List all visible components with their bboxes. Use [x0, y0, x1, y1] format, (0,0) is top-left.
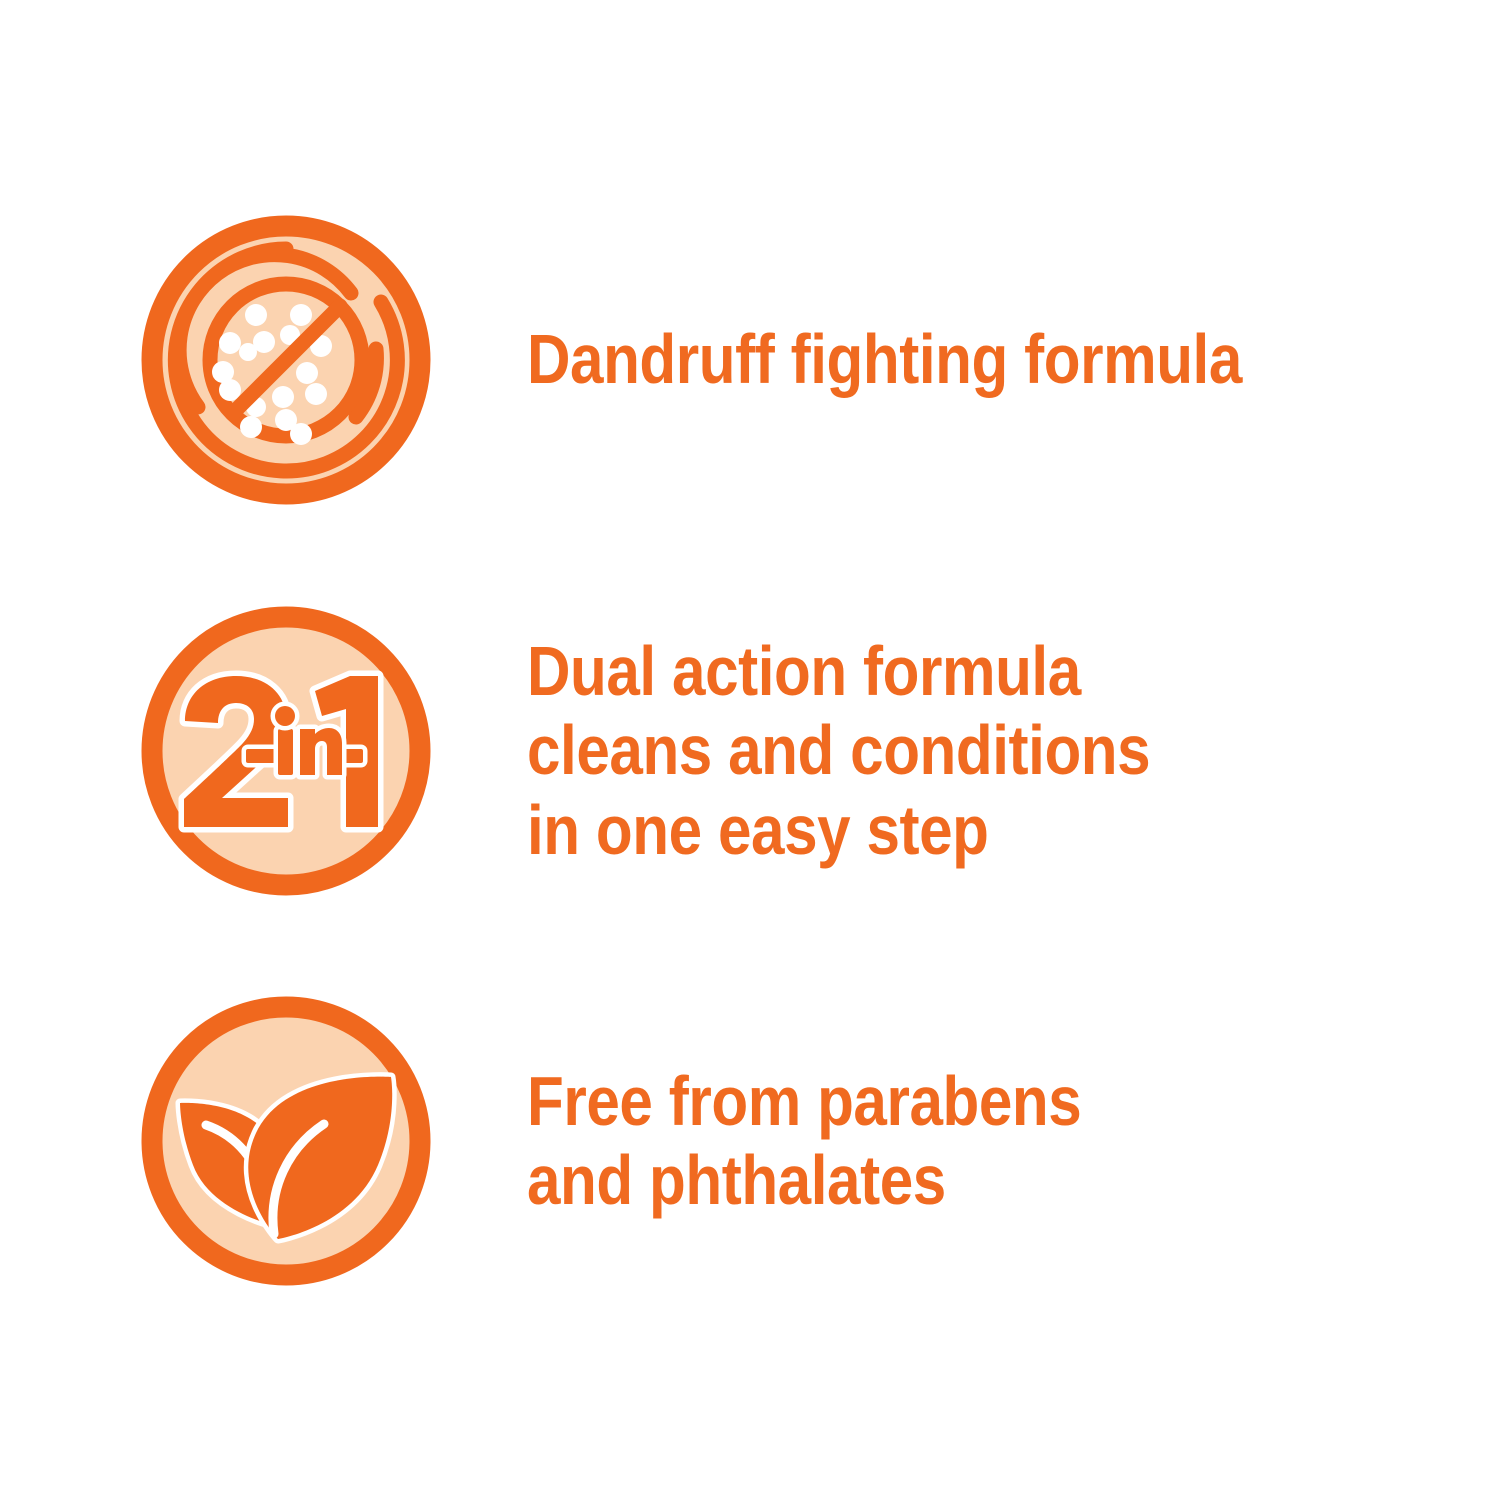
no-dandruff-flakes-icon [138, 212, 434, 508]
feature-row-two-in-one: 2-in-1 Dual action formula cleans and co… [138, 603, 1252, 899]
feature-label-free-from: Free from parabens and phthalates [527, 1062, 1081, 1220]
leaves-icon [138, 993, 434, 1289]
infographic-canvas: Dandruff fighting formula [0, 0, 1500, 1500]
feature-label-two-in-one: Dual action formula cleans and condition… [527, 632, 1150, 869]
feature-row-free-from: Free from parabens and phthalates [138, 993, 1172, 1289]
feature-label-dandruff: Dandruff fighting formula [527, 320, 1242, 399]
feature-row-dandruff: Dandruff fighting formula [138, 212, 1358, 508]
two-in-one-icon: 2-in-1 [138, 603, 434, 899]
